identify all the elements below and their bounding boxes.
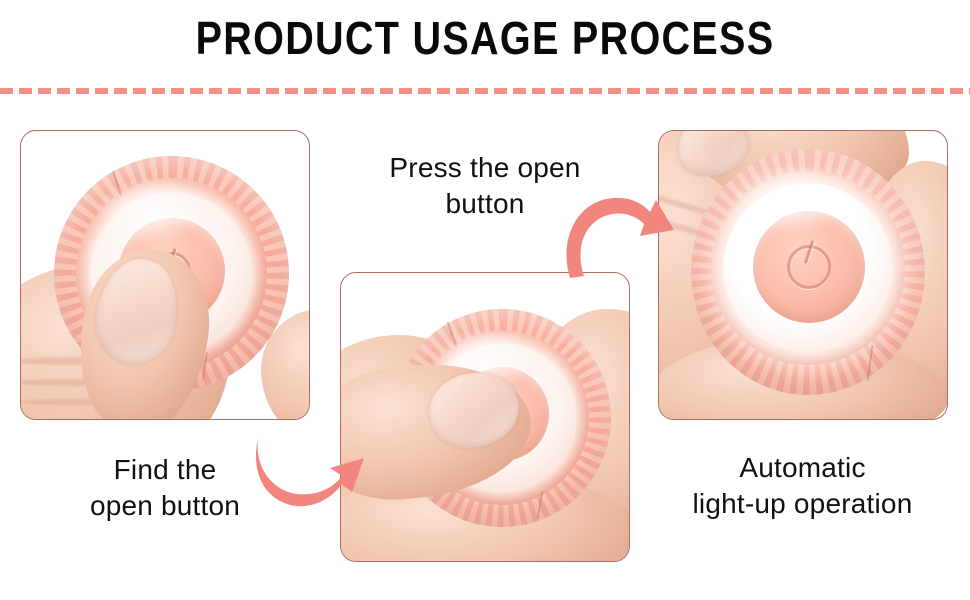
power-icon — [787, 245, 831, 289]
step-1-photo — [21, 131, 309, 419]
page-title: PRODUCT USAGE PROCESS — [68, 14, 902, 62]
step-2-photo — [341, 273, 629, 561]
product-device — [691, 149, 925, 395]
infographic-page: PRODUCT USAGE PROCESS — [0, 0, 970, 600]
header: PRODUCT USAGE PROCESS — [0, 14, 970, 62]
power-button[interactable] — [753, 211, 865, 323]
step-card-3 — [658, 130, 948, 420]
step-card-2 — [340, 272, 630, 562]
dashed-divider — [0, 88, 970, 94]
step-2-caption: Press the open button — [330, 150, 640, 222]
step-3-caption: Automatic light-up operation — [640, 450, 965, 522]
step-1-caption: Find the open button — [10, 452, 320, 524]
step-3-photo — [659, 131, 947, 419]
step-card-1 — [20, 130, 310, 420]
